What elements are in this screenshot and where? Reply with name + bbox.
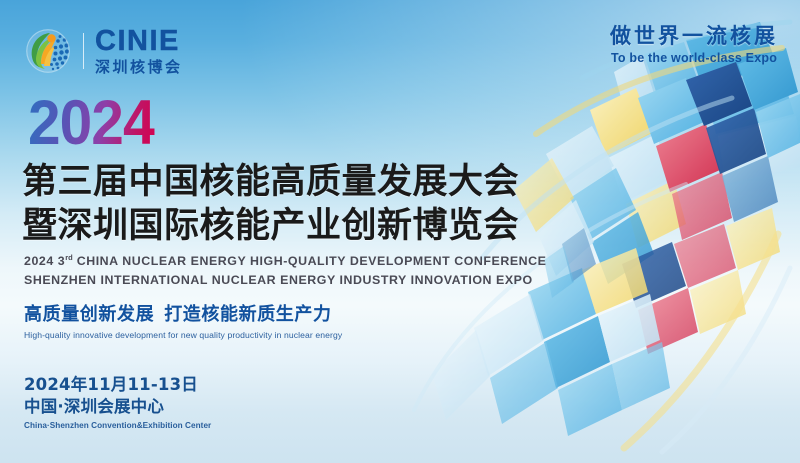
tagline-en: To be the world-class Expo [610, 51, 778, 65]
subtitle-en: 2024 3rd CHINA NUCLEAR ENERGY HIGH-QUALI… [24, 252, 546, 291]
tagline: 做世界一流核展 To be the world-class Expo [610, 24, 778, 65]
subtitle-line-2: SHENZHEN INTERNATIONAL NUCLEAR ENERGY IN… [24, 271, 546, 290]
logo-wordmark-cn: 深圳核博会 [95, 60, 183, 75]
slogan-cn: 高质量创新发展打造核能新质生产力 [24, 300, 342, 326]
title-line-2: 暨深圳国际核能产业创新博览会 [22, 204, 519, 248]
tagline-cn: 做世界一流核展 [610, 24, 778, 48]
subtitle-line-1-post: CHINA NUCLEAR ENERGY HIGH-QUALITY DEVELO… [73, 254, 547, 268]
subtitle-ordinal-sup: rd [65, 253, 73, 262]
cinie-leaf-globe-icon [24, 27, 72, 75]
title-line-1: 第三届中国核能高质量发展大会 [22, 160, 519, 204]
poster-canvas: CINIE 深圳核博会 做世界一流核展 To be the world-clas… [0, 0, 800, 463]
cinie-logo[interactable]: CINIE 深圳核博会 [24, 27, 183, 75]
event-info: 2024年11月11-13日 中国·深圳会展中心 China·Shenzhen … [24, 374, 211, 430]
subtitle-line-1-pre: 2024 3 [24, 254, 65, 268]
event-date: 2024年11月11-13日 [24, 374, 211, 396]
event-venue-cn: 中国·深圳会展中心 [24, 396, 211, 418]
logo-wordmark: CINIE [95, 27, 183, 56]
subtitle-line-1: 2024 3rd CHINA NUCLEAR ENERGY HIGH-QUALI… [24, 252, 546, 271]
slogan: 高质量创新发展打造核能新质生产力 High-quality innovative… [24, 300, 342, 340]
slogan-cn-part-1: 高质量创新发展 [24, 304, 154, 325]
page-title: 第三届中国核能高质量发展大会 暨深圳国际核能产业创新博览会 [22, 160, 519, 248]
slogan-cn-part-2: 打造核能新质生产力 [164, 304, 331, 325]
event-venue-en: China·Shenzhen Convention&Exhibition Cen… [24, 421, 211, 430]
year-2024: 2024 [28, 92, 155, 155]
slogan-en: High-quality innovative development for … [24, 330, 342, 340]
logo-divider [83, 33, 84, 69]
